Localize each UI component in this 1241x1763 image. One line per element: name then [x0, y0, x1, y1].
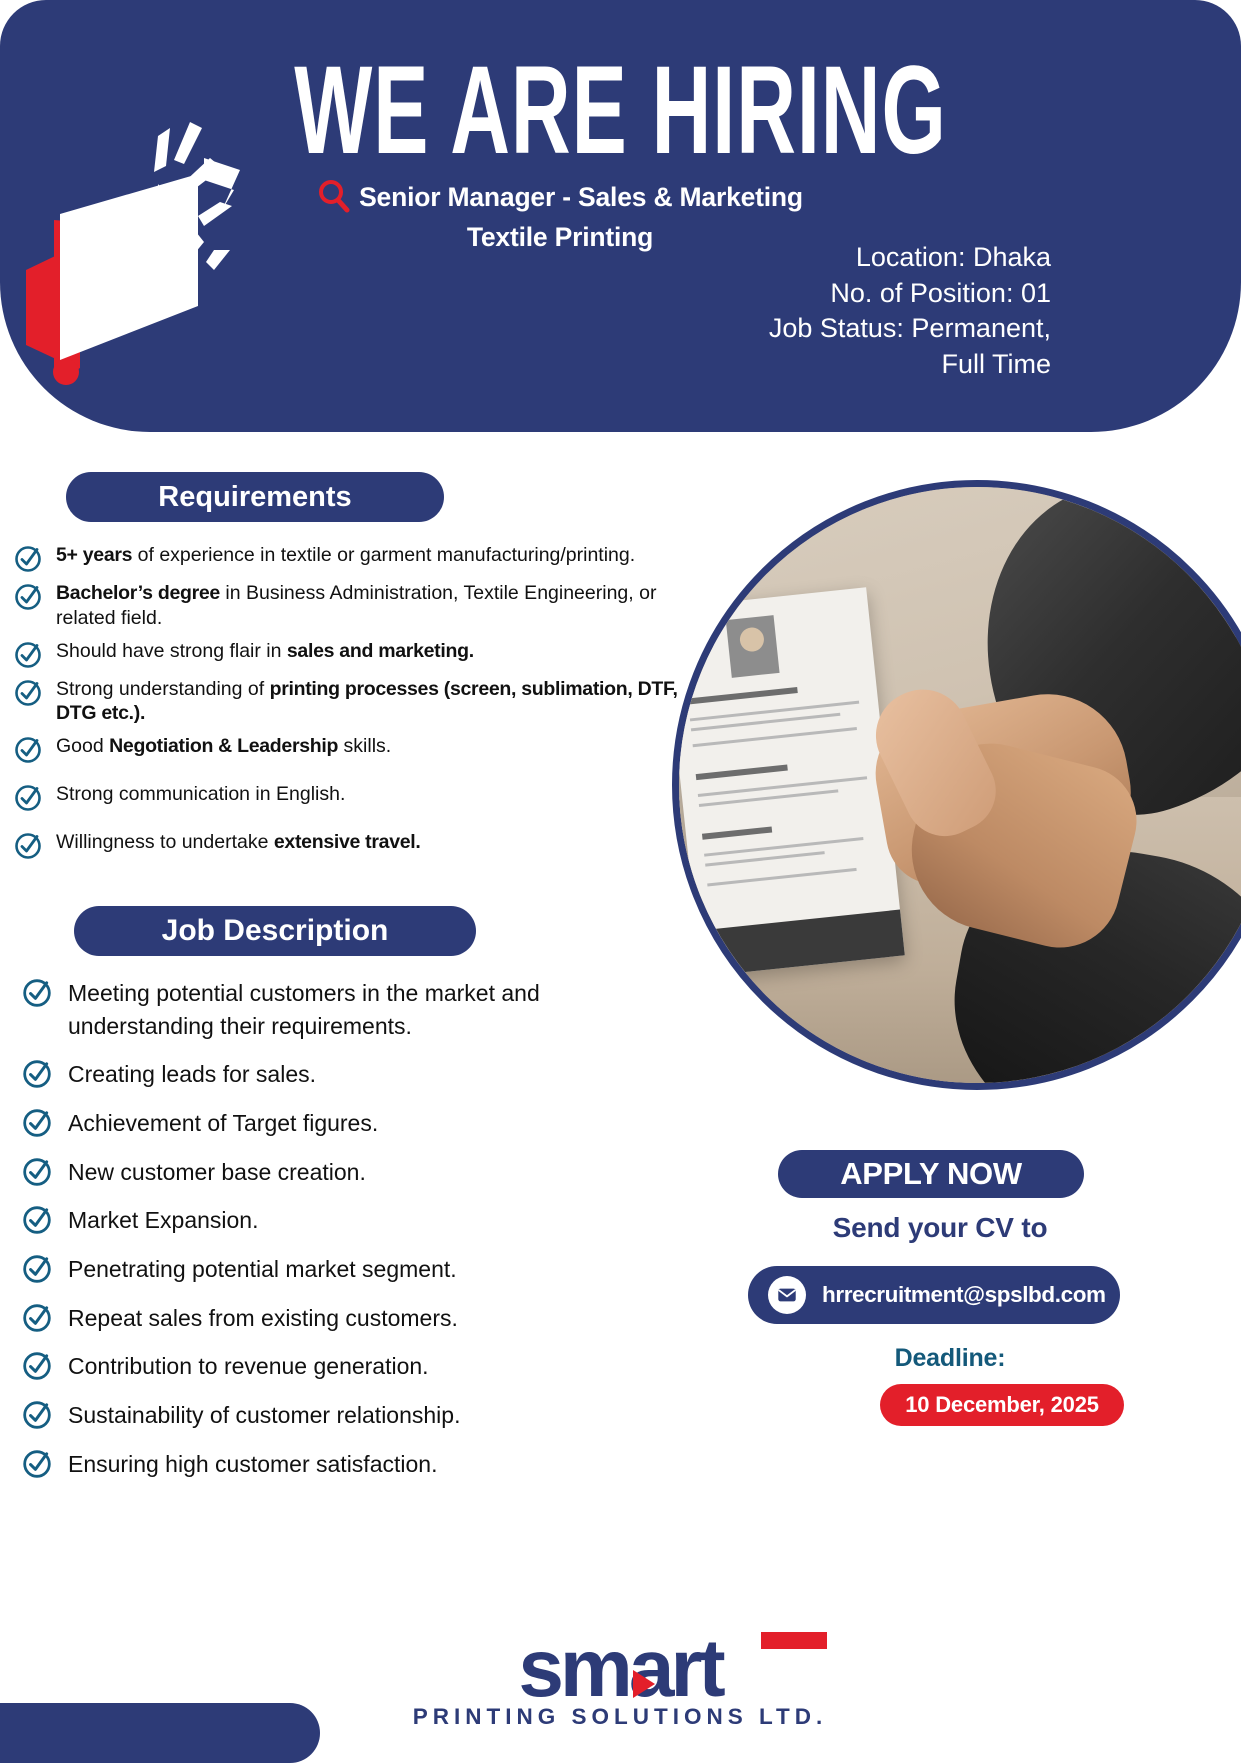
check-circle-icon: [14, 583, 42, 611]
list-item-text: Strong understanding of printing process…: [56, 677, 714, 727]
list-item-text: Penetrating potential market segment.: [68, 1253, 457, 1286]
check-circle-icon: [14, 736, 42, 764]
list-item: Bachelor’s degree in Business Administra…: [14, 581, 714, 631]
resume-heading: [696, 765, 788, 781]
list-item: Strong communication in English.: [14, 782, 714, 812]
check-circle-icon: [22, 1108, 52, 1138]
list-item-text: 5+ years of experience in textile or gar…: [56, 543, 635, 568]
req-rest-0: of experience in textile or garment manu…: [132, 544, 635, 566]
header-banner: WE ARE HIRING Senior Manager - Sales & M…: [0, 0, 1241, 432]
req-bold-2: sales and marketing.: [287, 640, 474, 662]
job-title: Senior Manager - Sales & Marketing: [359, 182, 803, 213]
req-bold-6: extensive travel.: [274, 831, 421, 853]
resume-heading: [688, 687, 798, 704]
list-item: Repeat sales from existing customers.: [22, 1302, 662, 1335]
list-item-text: Strong communication in English.: [56, 782, 345, 807]
check-circle-icon: [22, 1254, 52, 1284]
search-icon: [317, 179, 351, 213]
resume-line: [707, 868, 856, 887]
resume-line: [693, 727, 857, 747]
envelope-icon: [768, 1276, 806, 1314]
resume-line: [690, 701, 859, 722]
job-meta: Location: Dhaka No. of Position: 01 Job …: [491, 240, 1051, 383]
requirements-heading: Requirements: [66, 472, 444, 522]
check-circle-icon: [22, 1059, 52, 1089]
list-item: Good Negotiation & Leadership skills.: [14, 734, 714, 764]
list-item: Should have strong flair in sales and ma…: [14, 639, 714, 669]
list-item-text: Bachelor’s degree in Business Administra…: [56, 581, 714, 631]
resume-heading: [702, 826, 772, 839]
email-contact-bar[interactable]: hrrecruitment@spslbd.com: [748, 1266, 1120, 1324]
req-bold-0: 5+ years: [56, 544, 132, 566]
list-item-text: Creating leads for sales.: [68, 1058, 316, 1091]
req-prefix-6: Willingness to undertake: [56, 831, 274, 853]
check-circle-icon: [14, 832, 42, 860]
req-bold-1: Bachelor’s degree: [56, 582, 220, 604]
req-bold-4: Negotiation & Leadership: [109, 735, 338, 757]
meta-positions: No. of Position: 01: [491, 276, 1051, 312]
meta-location: Location: Dhaka: [491, 240, 1051, 276]
list-item-text: Market Expansion.: [68, 1204, 258, 1237]
list-item: Creating leads for sales.: [22, 1058, 662, 1091]
page-title: WE ARE HIRING: [37, 38, 1204, 183]
logo-mark: smart: [405, 1630, 835, 1708]
meta-status-line2: Full Time: [491, 347, 1051, 383]
list-item: Willingness to undertake extensive trave…: [14, 830, 714, 860]
list-item: Sustainability of customer relationship.: [22, 1399, 662, 1432]
req-suffix-4: skills.: [338, 735, 391, 757]
list-item-text: New customer base creation.: [68, 1156, 366, 1189]
list-item: Ensuring high customer satisfaction.: [22, 1448, 662, 1481]
check-circle-icon: [22, 1400, 52, 1430]
deadline-badge: 10 December, 2025: [880, 1384, 1124, 1426]
list-item-text: Contribution to revenue generation.: [68, 1350, 429, 1383]
list-item-text: Ensuring high customer satisfaction.: [68, 1448, 437, 1481]
photo-resume-document: [672, 587, 905, 976]
check-circle-icon: [22, 1157, 52, 1187]
list-item: Strong understanding of printing process…: [14, 677, 714, 727]
list-item-text: Meeting potential customers in the marke…: [68, 977, 662, 1042]
list-item: Achievement of Target figures.: [22, 1107, 662, 1140]
check-circle-icon: [14, 679, 42, 707]
logo-red-bar: [761, 1632, 827, 1649]
send-cv-label: Send your CV to: [740, 1212, 1140, 1244]
list-item: Market Expansion.: [22, 1204, 662, 1237]
company-logo: smart PRINTING SOLUTIONS LTD.: [405, 1630, 835, 1750]
list-item-text: Achievement of Target figures.: [68, 1107, 378, 1140]
job-description-list: Meeting potential customers in the marke…: [22, 977, 662, 1496]
check-circle-icon: [22, 1303, 52, 1333]
check-circle-icon: [22, 1351, 52, 1381]
check-circle-icon: [22, 1205, 52, 1235]
list-item: Meeting potential customers in the marke…: [22, 977, 662, 1042]
apply-now-button[interactable]: APPLY NOW: [778, 1150, 1084, 1198]
req-prefix-4: Good: [56, 735, 109, 757]
requirements-list: 5+ years of experience in textile or gar…: [14, 543, 714, 868]
check-circle-icon: [14, 641, 42, 669]
bottom-accent-bar: [0, 1703, 320, 1763]
list-item-text: Should have strong flair in sales and ma…: [56, 639, 474, 664]
req-prefix-3: Strong understanding of: [56, 678, 270, 700]
list-item: 5+ years of experience in textile or gar…: [14, 543, 714, 573]
check-circle-icon: [22, 1449, 52, 1479]
meta-status-line1: Job Status: Permanent,: [491, 311, 1051, 347]
deadline-label: Deadline:: [780, 1344, 1120, 1373]
check-circle-icon: [22, 978, 52, 1008]
list-item-text: Willingness to undertake extensive trave…: [56, 830, 421, 855]
list-item-text: Repeat sales from existing customers.: [68, 1302, 458, 1335]
resume-line: [704, 837, 863, 857]
resume-line: [698, 776, 867, 797]
list-item: New customer base creation.: [22, 1156, 662, 1189]
job-description-heading: Job Description: [74, 906, 476, 956]
req-prefix-2: Should have strong flair in: [56, 640, 287, 662]
check-circle-icon: [14, 545, 42, 573]
list-item: Contribution to revenue generation.: [22, 1350, 662, 1383]
check-circle-icon: [14, 784, 42, 812]
list-item-text: Good Negotiation & Leadership skills.: [56, 734, 391, 759]
resume-portrait: [726, 615, 780, 678]
list-item: Penetrating potential market segment.: [22, 1253, 662, 1286]
job-title-row: Senior Manager - Sales & Marketing: [140, 180, 980, 214]
handshake-photo: [672, 480, 1241, 1090]
logo-red-triangle: [633, 1670, 655, 1698]
list-item-text: Sustainability of customer relationship.: [68, 1399, 460, 1432]
email-address: hrrecruitment@spslbd.com: [822, 1282, 1106, 1308]
